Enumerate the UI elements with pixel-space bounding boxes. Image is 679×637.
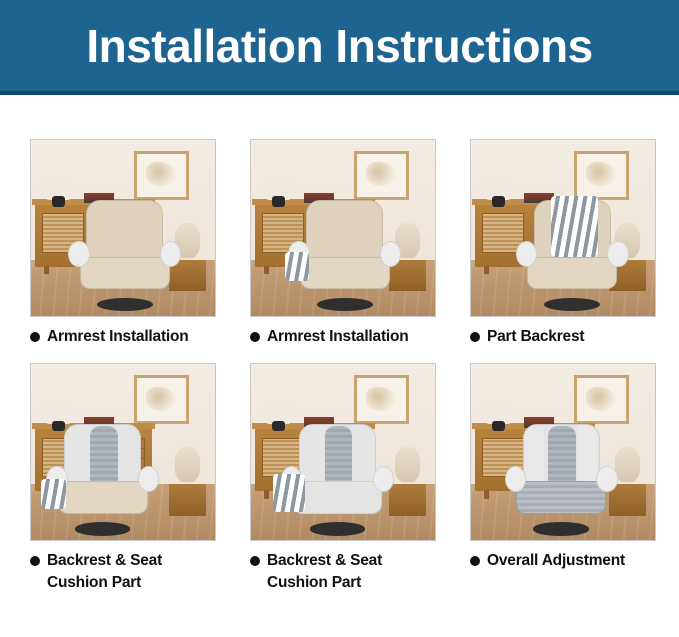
instruction-sheet: Installation Instructions [0, 0, 679, 637]
step-cell-1: Armrest Installation [30, 139, 216, 347]
chair-seat [58, 481, 148, 514]
bullet-icon [30, 332, 40, 342]
step-caption-text: Overall Adjustment [487, 550, 625, 571]
step-cell-5: Backrest & Seat Cushion Part [250, 363, 436, 593]
room-scene [31, 364, 215, 540]
step-photo-3 [470, 139, 656, 317]
wood-stool [609, 484, 646, 516]
backrest-side-panel-left [525, 426, 544, 485]
step-caption-5: Backrest & Seat Cushion Part [250, 550, 436, 593]
step-cell-2: Armrest Installation [250, 139, 436, 347]
wall-art-frame [574, 375, 629, 424]
step-cell-4: Backrest & Seat Cushion Part [30, 363, 216, 593]
wall-art-frame [354, 151, 409, 200]
backrest-side-panel-right [578, 426, 597, 485]
step-photo-5 [250, 363, 436, 541]
step-photo-6 [470, 363, 656, 541]
backrest-center-panel [90, 426, 118, 485]
recliner-chair [284, 424, 391, 533]
step-caption-6: Overall Adjustment [470, 550, 656, 571]
step-caption-text: Armrest Installation [47, 326, 189, 347]
page-header: Installation Instructions [0, 0, 679, 91]
seat-cushion-cover [516, 481, 606, 514]
room-scene [471, 140, 655, 316]
chair-swivel-base [544, 298, 599, 311]
bullet-icon [470, 332, 480, 342]
chair-swivel-base [75, 522, 130, 535]
recliner-chair [519, 200, 626, 309]
step-photo-1 [30, 139, 216, 317]
page-title: Installation Instructions [86, 23, 592, 69]
wall-art-frame [134, 375, 189, 424]
step-caption-text: Backrest & Seat Cushion Part [47, 550, 216, 593]
step-photo-2 [250, 139, 436, 317]
lamp-base [272, 421, 285, 432]
backrest-center-panel [325, 426, 353, 485]
armrest-cover-right [138, 466, 159, 492]
room-scene [471, 364, 655, 540]
step-caption-3: Part Backrest [470, 326, 656, 347]
backrest-center-panel [548, 426, 576, 485]
sideboard-leg-left [264, 266, 269, 274]
step-cell-3: Part Backrest [470, 139, 656, 347]
armrest-cover-right [607, 241, 628, 267]
chair-backrest [306, 200, 383, 263]
wall-art-frame [574, 151, 629, 200]
room-scene [31, 140, 215, 316]
lamp-base [492, 196, 505, 207]
chair-swivel-base [317, 298, 372, 311]
wood-stool [169, 484, 206, 516]
recliner-chair [71, 200, 178, 309]
recliner-chair [291, 200, 398, 309]
armrest-cover-right [380, 241, 401, 267]
lamp-base [492, 421, 505, 432]
armrest-cover-right [160, 241, 181, 267]
chair-backrest [86, 200, 163, 263]
draped-stripe-cloth [41, 479, 67, 510]
wood-stool [389, 484, 426, 516]
room-scene [251, 140, 435, 316]
vase [615, 447, 641, 482]
draped-stripe-cloth [273, 474, 305, 511]
lamp-base [52, 196, 65, 207]
room-scene [251, 364, 435, 540]
step-cell-6: Overall Adjustment [470, 363, 656, 593]
chair-seat [80, 257, 170, 290]
recliner-chair [508, 424, 615, 533]
sideboard-leg-left [264, 490, 269, 498]
bullet-icon [250, 332, 260, 342]
step-caption-text: Armrest Installation [267, 326, 409, 347]
lamp-base [272, 196, 285, 207]
step-photo-4 [30, 363, 216, 541]
armrest-cover-right [596, 466, 617, 492]
backrest-cover-partial [551, 196, 598, 257]
chair-seat [527, 257, 617, 290]
step-caption-text: Backrest & Seat Cushion Part [267, 550, 436, 593]
chair-swivel-base [97, 298, 152, 311]
bullet-icon [470, 556, 480, 566]
step-caption-1: Armrest Installation [30, 326, 216, 347]
chair-seat [300, 257, 390, 290]
draped-stripe-cloth [285, 252, 308, 280]
chair-swivel-base [310, 522, 365, 535]
vase [175, 447, 201, 482]
step-caption-text: Part Backrest [487, 326, 584, 347]
wall-art-frame [134, 151, 189, 200]
seat-cushion-cover [293, 481, 383, 514]
bullet-icon [30, 556, 40, 566]
sideboard-leg-left [484, 490, 489, 498]
steps-grid: Armrest Installation [0, 95, 679, 593]
step-caption-4: Backrest & Seat Cushion Part [30, 550, 216, 593]
vase [395, 447, 421, 482]
sideboard-leg-left [484, 266, 489, 274]
step-caption-2: Armrest Installation [250, 326, 436, 347]
armrest-cover-right [373, 466, 394, 492]
bullet-icon [250, 556, 260, 566]
recliner-chair [49, 424, 156, 533]
armrest-cover-left [68, 241, 89, 267]
sideboard-leg-left [44, 266, 49, 274]
wall-art-frame [354, 375, 409, 424]
chair-swivel-base [533, 522, 588, 535]
armrest-cover-left [505, 466, 526, 492]
